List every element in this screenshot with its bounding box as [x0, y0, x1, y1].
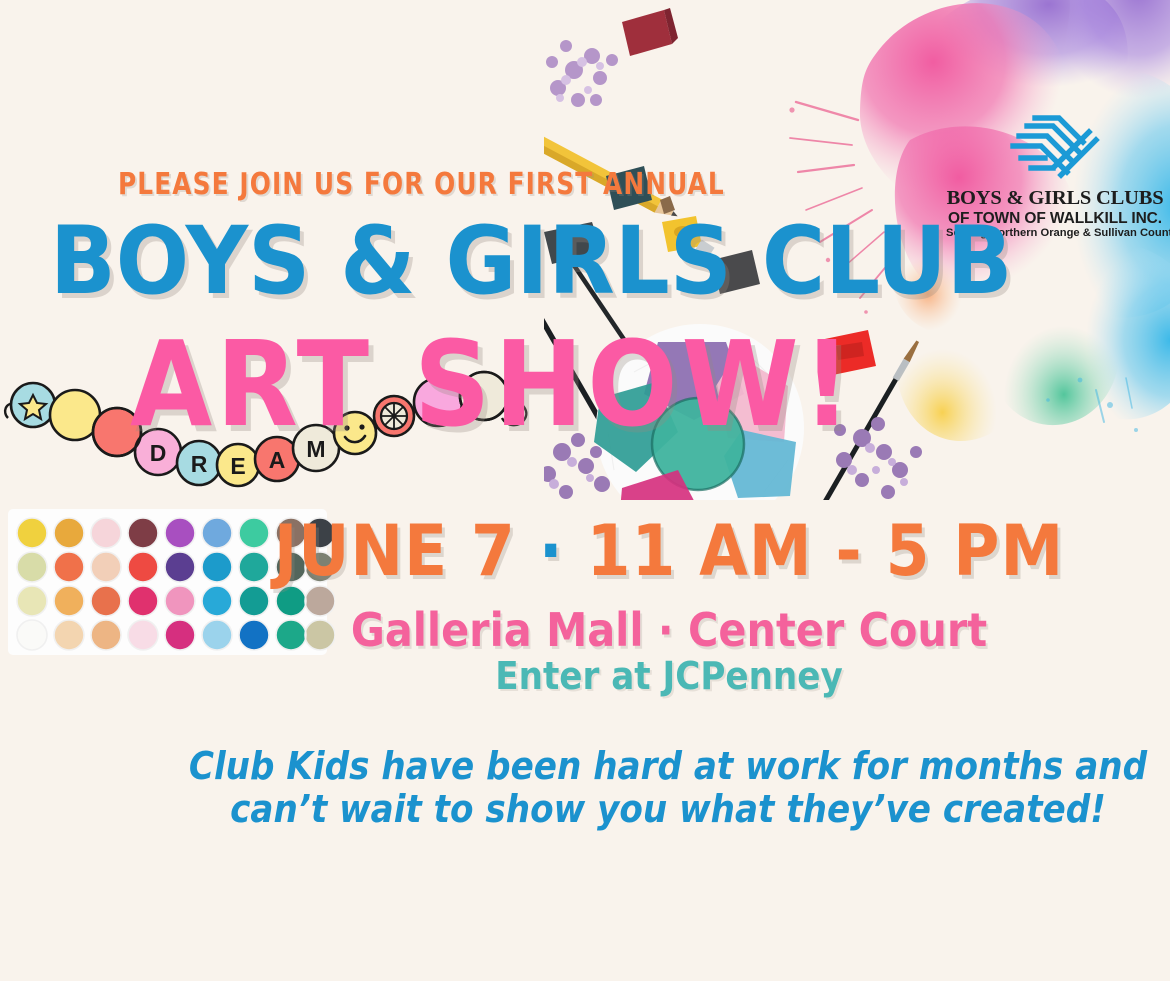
event-datetime: JUNE 7 · 11 AM - 5 PM — [0, 516, 1170, 586]
kicker-text: PLEASE JOIN US FOR OUR FIRST ANNUAL — [118, 167, 725, 202]
tagline-line-1: Club Kids have been hard at work for mon… — [180, 745, 1156, 788]
event-venue: Galleria Mall · Center Court — [0, 607, 1170, 653]
event-entrance: Enter at JCPenney — [0, 657, 1170, 695]
event-date: JUNE 7 — [274, 510, 516, 592]
event-tagline: Club Kids have been hard at work for mon… — [0, 745, 1170, 831]
tagline-line-2: can’t wait to show you what they’ve crea… — [180, 788, 1156, 831]
headline-primary: BOYS & GIRLS CLUB — [50, 215, 1012, 309]
datetime-separator-dot: · — [539, 510, 564, 592]
event-time: 11 AM - 5 PM — [587, 510, 1065, 592]
headline-secondary: ART SHOW! — [130, 325, 855, 443]
poster-canvas: BOYS & GIRLS CLUBS OF TOWN OF WALLKILL I… — [0, 0, 1170, 981]
poster-text-content: PLEASE JOIN US FOR OUR FIRST ANNUAL BOYS… — [0, 0, 1170, 981]
